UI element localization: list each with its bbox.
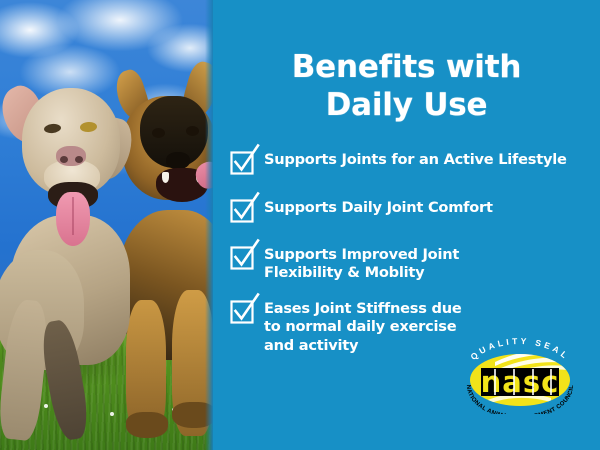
- checkbox-checked-icon: [231, 151, 255, 175]
- dog-right-nose: [166, 152, 190, 169]
- list-item-label: Supports Improved Joint Flexibility & Mo…: [264, 245, 459, 283]
- nasc-quality-seal-logo: QUALITY SEAL nasc NATIONAL ANIMAL SUPPLE…: [455, 336, 585, 414]
- list-item-line: Supports Daily Joint Comfort: [264, 199, 493, 217]
- promo-banner: Benefits with Daily Use Supports Joints …: [0, 0, 600, 450]
- list-item-label: Supports Joints for an Active Lifestyle: [264, 150, 567, 169]
- list-item-line: and activity: [264, 337, 462, 355]
- logo-wordmark: nasc: [481, 365, 560, 399]
- dog-left-tongue: [56, 192, 90, 246]
- page-title-line-1: Benefits with: [213, 48, 600, 86]
- dog-left-nostril-right: [75, 156, 83, 163]
- list-item-line: Eases Joint Stiffness due: [264, 300, 462, 318]
- dog-right-tooth-left: [162, 172, 169, 183]
- dog-right-eye-left: [152, 128, 165, 138]
- list-item: Supports Joints for an Active Lifestyle: [231, 150, 600, 175]
- list-item-line: Flexibility & Moblity: [264, 264, 459, 282]
- list-item: Supports Daily Joint Comfort: [231, 198, 600, 223]
- dog-right-eye-right: [186, 126, 199, 136]
- list-item: Supports Improved Joint Flexibility & Mo…: [231, 245, 600, 283]
- page-title-line-2: Daily Use: [213, 86, 600, 124]
- page-title: Benefits with Daily Use: [213, 48, 600, 125]
- list-item-line: to normal daily exercise: [264, 318, 462, 336]
- checkbox-checked-icon: [231, 199, 255, 223]
- dog-left-nostril-left: [60, 156, 68, 163]
- checkbox-checked-icon: [231, 300, 255, 324]
- list-item-line: Supports Improved Joint: [264, 246, 459, 264]
- checkbox-checked-icon: [231, 246, 255, 270]
- photo-panel-divider: [205, 0, 213, 450]
- benefits-list: Supports Joints for an Active Lifestyle …: [231, 150, 600, 367]
- svg-text:nasc: nasc: [481, 365, 560, 399]
- list-item-label: Supports Daily Joint Comfort: [264, 198, 493, 217]
- list-item-label: Eases Joint Stiffness due to normal dail…: [264, 299, 462, 355]
- two-dogs-running-photo: [0, 0, 213, 450]
- list-item-line: Supports Joints for an Active Lifestyle: [264, 151, 567, 169]
